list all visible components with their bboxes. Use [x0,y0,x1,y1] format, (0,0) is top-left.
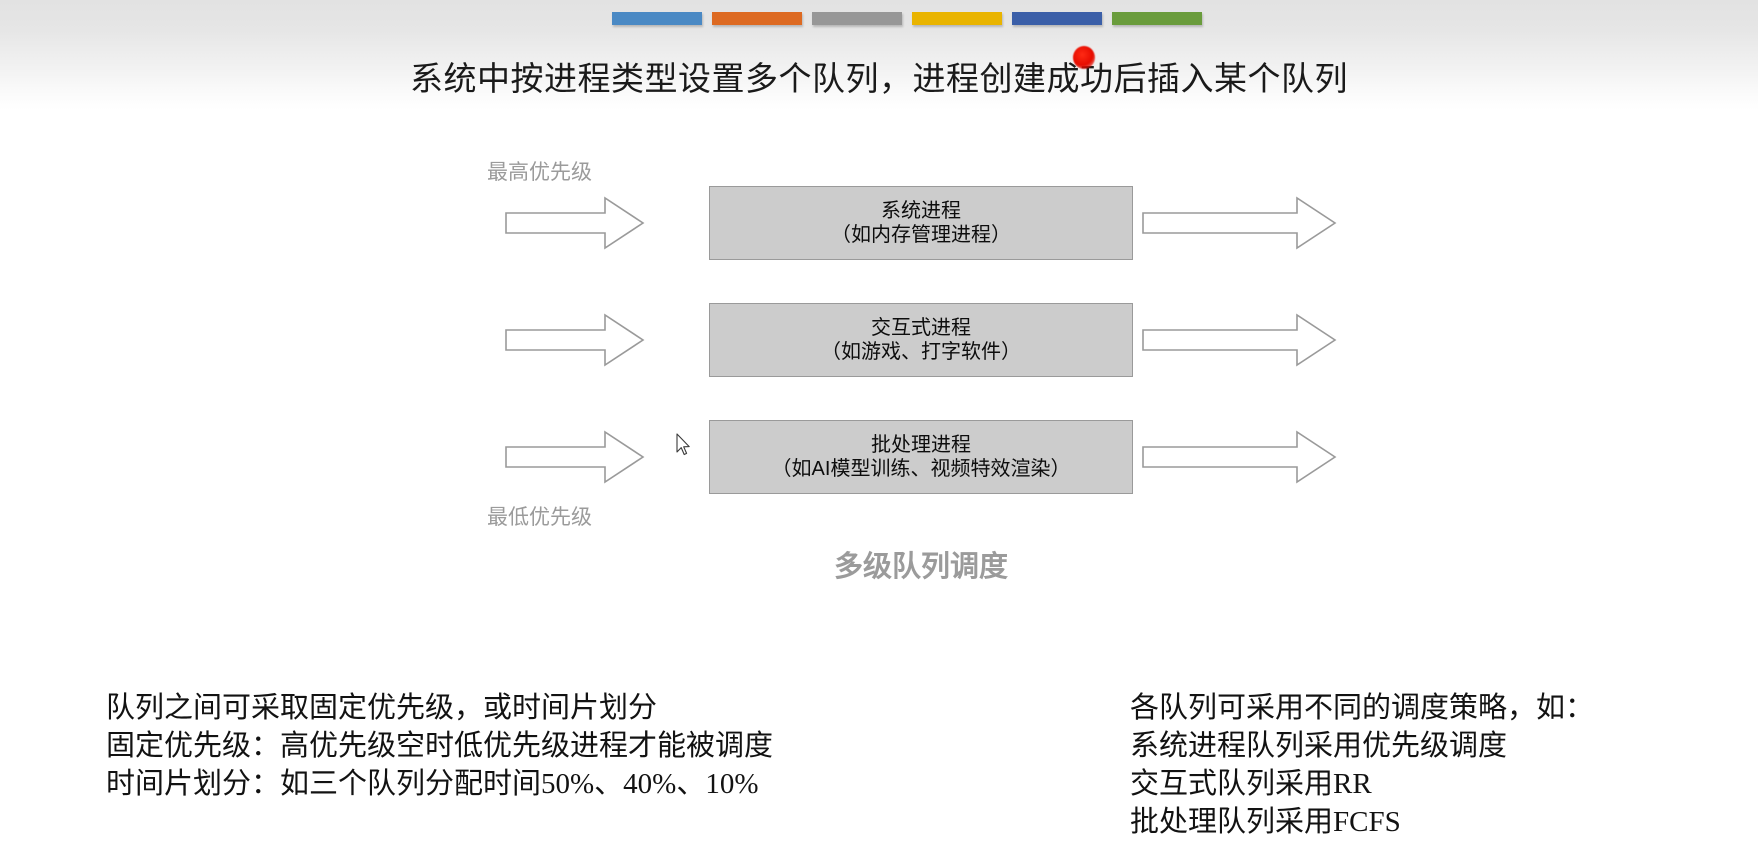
bar-blue [612,12,702,25]
bottom-right-line-3: 交互式队列采用RR [1130,766,1594,804]
laser-pointer-dot [1073,46,1095,69]
bar-orange [712,12,802,25]
queue-box-subtitle: （如内存管理进程） [831,223,1011,247]
bottom-right-line-2: 系统进程队列采用优先级调度 [1130,728,1594,766]
queue-box-title: 系统进程 [881,199,961,223]
mouse-cursor-icon [676,433,692,457]
queue-box-title: 批处理进程 [871,433,971,457]
queue-box-system: 系统进程 （如内存管理进程） [709,186,1133,260]
queue-box-interactive: 交互式进程 （如游戏、打字软件） [709,303,1133,377]
queue-box-subtitle: （如游戏、打字软件） [821,340,1021,364]
outbound-arrow-icon-1 [1142,195,1337,251]
bar-green [1112,12,1202,25]
diagram-caption: 多级队列调度 [709,543,1133,585]
bottom-right-line-4: 批处理队列采用FCFS [1130,804,1594,842]
slide-title: 系统中按进程类型设置多个队列，进程创建成功后插入某个队列 [0,52,1758,100]
inbound-arrow-icon-2 [505,312,645,368]
inbound-arrow-icon-1 [505,195,645,251]
bottom-left-line-2: 固定优先级：高优先级空时低优先级进程才能被调度 [106,728,773,766]
queue-box-batch: 批处理进程 （如AI模型训练、视频特效渲染） [709,420,1133,494]
bottom-left-text-block: 队列之间可采取固定优先级，或时间片划分 固定优先级：高优先级空时低优先级进程才能… [106,690,773,804]
outbound-arrow-icon-2 [1142,312,1337,368]
queue-box-subtitle: （如AI模型训练、视频特效渲染） [772,457,1071,481]
inbound-arrow-icon-3 [505,429,645,485]
bottom-right-line-1: 各队列可采用不同的调度策略，如： [1130,690,1594,728]
highest-priority-label: 最高优先级 [487,156,592,186]
lowest-priority-label: 最低优先级 [487,501,592,531]
bar-yellow [912,12,1002,25]
bottom-right-text-block: 各队列可采用不同的调度策略，如： 系统进程队列采用优先级调度 交互式队列采用RR… [1130,690,1594,842]
bar-gray [812,12,902,25]
bottom-left-line-1: 队列之间可采取固定优先级，或时间片划分 [106,690,773,728]
color-bar-strip [612,12,1202,28]
bar-dark-blue [1012,12,1102,25]
bottom-left-line-3: 时间片划分：如三个队列分配时间50%、40%、10% [106,766,773,804]
queue-box-title: 交互式进程 [871,316,971,340]
outbound-arrow-icon-3 [1142,429,1337,485]
